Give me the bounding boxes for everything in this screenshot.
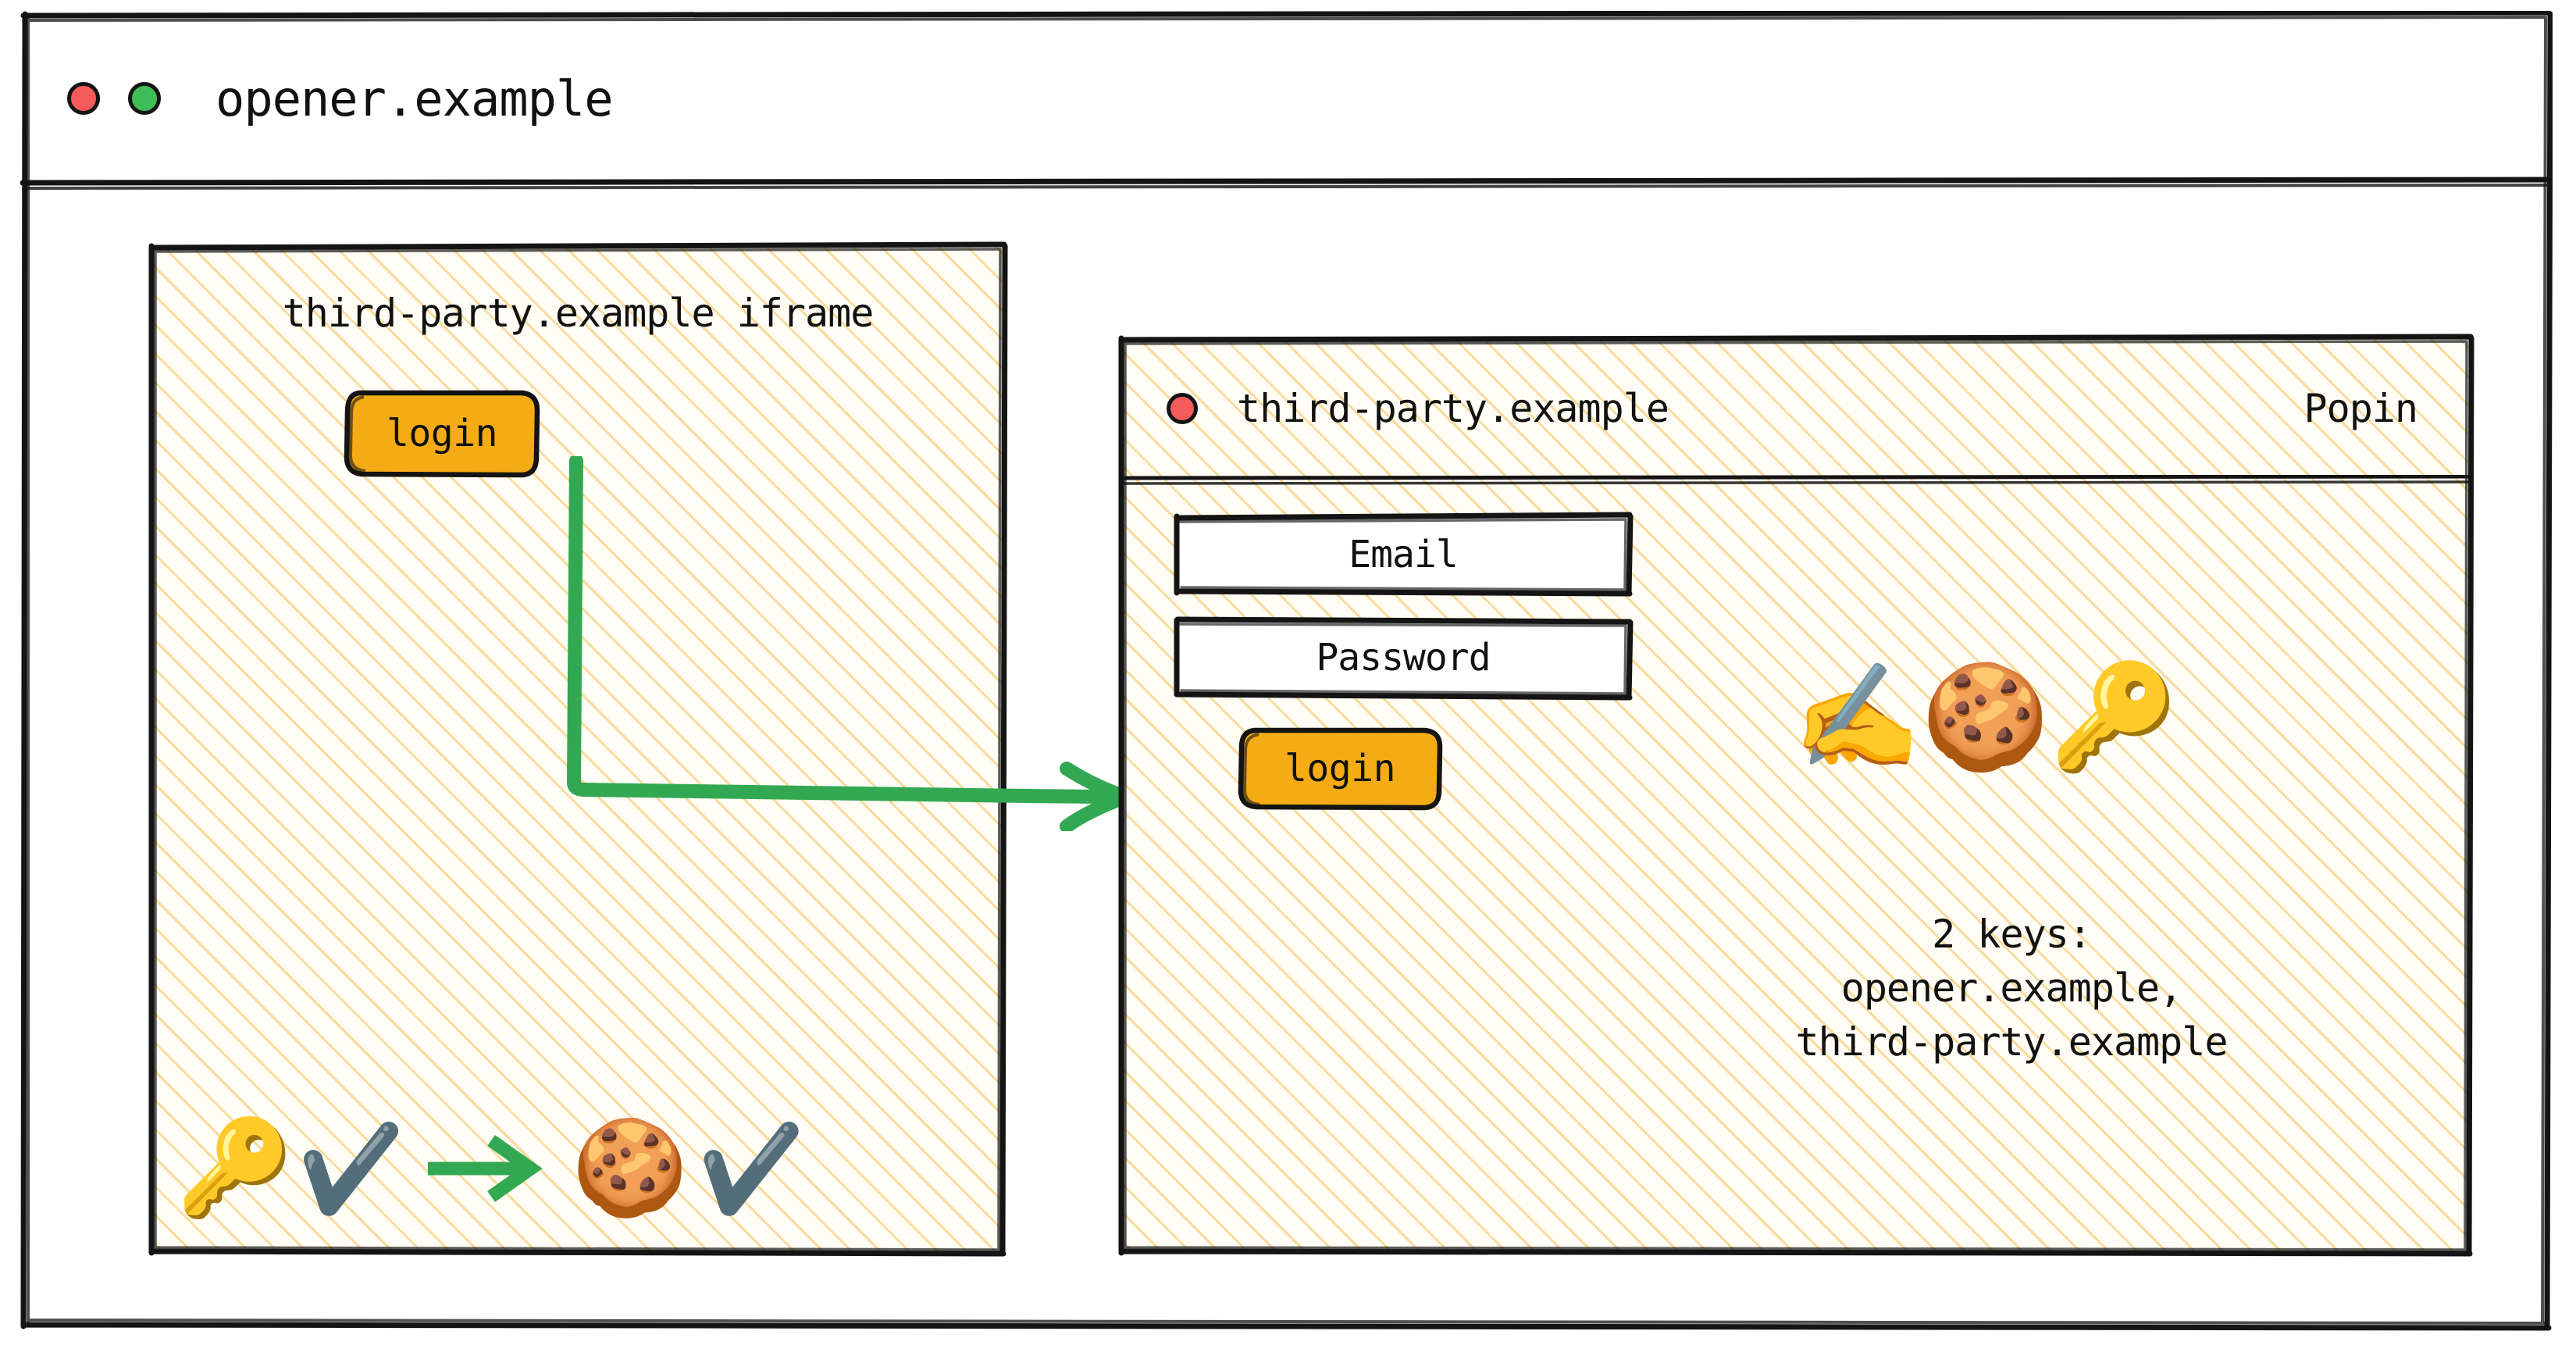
cookie-emoji: 🍪 — [1921, 666, 2049, 769]
iframe-storage-flow: 🔑 ✔️ 🍪 ✔️ — [166, 1122, 1018, 1215]
keys-note-line-1: 2 keys: — [1621, 908, 2402, 962]
outer-window-titlebar: opener.example — [20, 11, 2553, 186]
cookie-emoji: 🍪 — [572, 1122, 688, 1215]
cookie-check-mark-emoji: ✔️ — [698, 1126, 805, 1211]
keys-note: 2 keys: opener.example, third-party.exam… — [1621, 908, 2402, 1069]
third-party-iframe-panel: third-party.example iframe login 🔑 ✔️ 🍪 … — [151, 245, 1004, 1253]
right-arrow-icon — [428, 1133, 545, 1204]
writing-hand-emoji: ✍️ — [1793, 666, 1921, 769]
popin-titlebar: third-party.example Popin — [1121, 337, 2471, 480]
popin-login-form: Email Password login — [1178, 517, 1646, 801]
close-dot[interactable] — [1167, 393, 1198, 424]
keys-note-line-2: opener.example, — [1621, 962, 2402, 1015]
maximize-dot[interactable] — [128, 82, 161, 115]
password-field[interactable]: Password — [1178, 620, 1629, 695]
popin-credential-emoji-row: ✍️ 🍪 🔑 — [1793, 666, 2178, 769]
email-field-label: Email — [1349, 533, 1458, 576]
popin-window: third-party.example Popin Email Passwor — [1121, 337, 2471, 1253]
opener-browser-window: opener.example third-party.example ifram… — [20, 11, 2553, 1331]
iframe-panel-border — [147, 241, 1009, 1258]
key-emoji: 🔑 — [2050, 666, 2178, 769]
popin-badge: Popin — [2303, 386, 2417, 431]
close-dot[interactable] — [67, 82, 100, 115]
iframe-panel-title: third-party.example iframe — [151, 291, 1004, 336]
iframe-login-button[interactable]: login — [347, 392, 537, 475]
popin-login-button[interactable]: login — [1240, 730, 1440, 808]
popin-title: third-party.example — [1237, 386, 1669, 431]
outer-window-title: opener.example — [216, 70, 613, 127]
popin-login-button-label: login — [1284, 747, 1395, 790]
password-field-label: Password — [1316, 636, 1490, 680]
keys-note-line-3: third-party.example — [1621, 1015, 2402, 1069]
iframe-login-button-label: login — [387, 412, 497, 455]
key-emoji: 🔑 — [176, 1122, 293, 1215]
key-check-mark-emoji: ✔️ — [298, 1126, 404, 1211]
email-field[interactable]: Email — [1178, 517, 1629, 592]
